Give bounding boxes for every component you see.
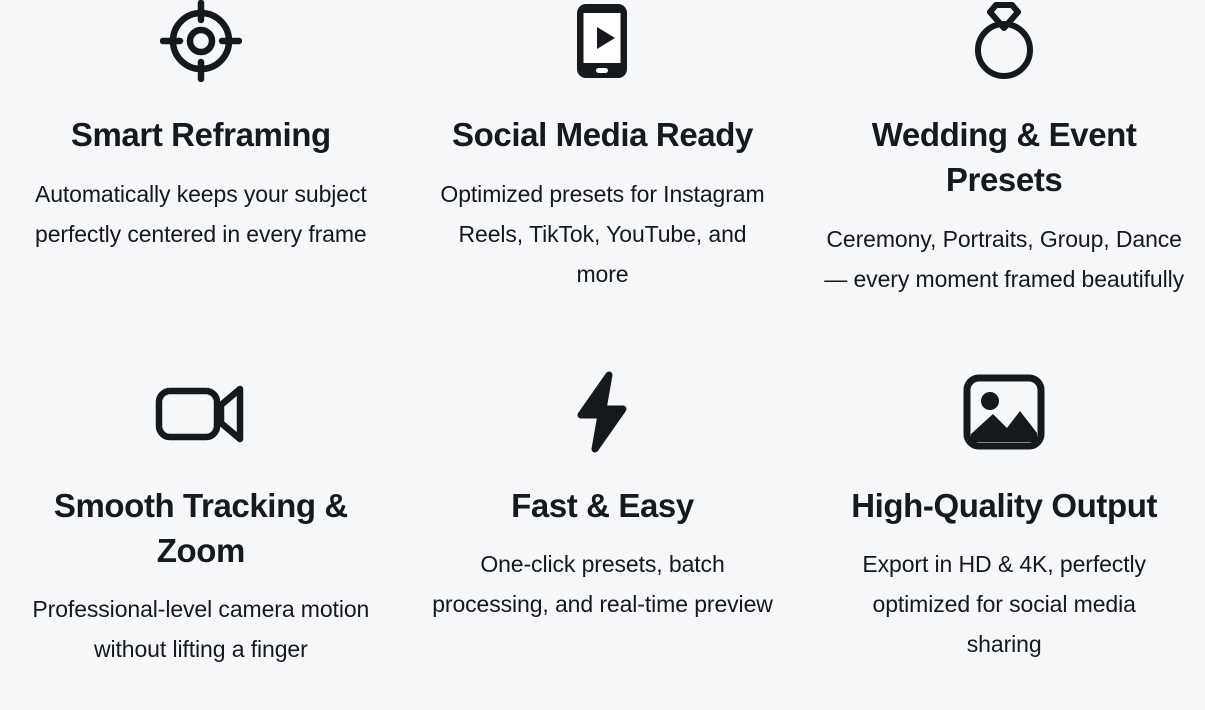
feature-card-wedding-event-presets: Wedding & Event Presets Ceremony, Portra… [803,0,1205,370]
feature-card-social-media-ready: Social Media Ready Optimized presets for… [402,0,804,370]
feature-title: Social Media Ready [452,112,753,157]
feature-card-smart-reframing: Smart Reframing Automatically keeps your… [0,0,402,370]
feature-description: Automatically keeps your subject perfect… [28,174,373,254]
feature-title: Fast & Easy [511,483,694,528]
icon-slot [160,0,242,82]
icon-slot [155,370,247,454]
icon-slot [963,370,1045,454]
feature-description: Professional-level camera motion without… [18,589,384,669]
icon-slot [574,0,630,82]
video-camera-icon [155,379,247,445]
feature-card-smooth-tracking-zoom: Smooth Tracking & Zoom Professional-leve… [0,370,402,710]
mobile-phone-play-icon [574,1,630,81]
feature-title: Smart Reframing [71,112,331,157]
feature-description: Export in HD & 4K, perfectly optimized f… [834,544,1174,664]
feature-card-fast-easy: Fast & Easy One-click presets, batch pro… [402,370,804,710]
feature-title: Smooth Tracking & Zoom [31,483,371,573]
icon-slot [575,370,629,454]
image-photo-icon [963,374,1045,450]
feature-description: One-click presets, batch processing, and… [430,544,775,624]
wedding-ring-icon [970,0,1038,82]
feature-title: Wedding & Event Presets [839,112,1169,202]
feature-description: Optimized presets for Instagram Reels, T… [430,174,775,294]
feature-card-high-quality-output: High-Quality Output Export in HD & 4K, p… [803,370,1205,710]
crosshair-target-icon [160,0,242,82]
feature-title: High-Quality Output [851,483,1157,528]
icon-slot [970,0,1038,82]
lightning-bolt-icon [575,371,629,453]
feature-description: Ceremony, Portraits, Group, Dance — ever… [824,219,1184,299]
features-grid: Smart Reframing Automatically keeps your… [0,0,1205,710]
